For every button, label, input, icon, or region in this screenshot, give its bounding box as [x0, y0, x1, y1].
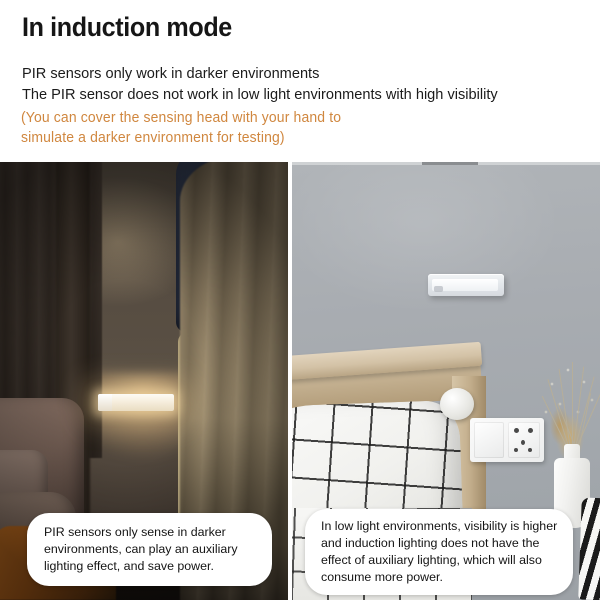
pir-sensor-head [434, 286, 443, 292]
socket-hole [521, 440, 525, 445]
flower-stem [573, 367, 584, 450]
caption-bubble-right: In low light environments, visibility is… [305, 509, 573, 595]
header-text-block: In induction mode PIR sensors only work … [0, 0, 600, 162]
note-line-1: (You can cover the sensing head with you… [21, 110, 341, 126]
wall-highlight [292, 162, 600, 362]
led-light-bar-end-cap [98, 394, 112, 411]
zebra-striped-vase [578, 497, 600, 600]
wall-switch[interactable] [474, 422, 504, 458]
note-line-2: simulate a darker environment for testin… [21, 130, 285, 146]
socket-hole [528, 428, 533, 433]
page-root: In induction mode PIR sensors only work … [0, 0, 600, 600]
subtitle-line-2: The PIR sensor does not work in low ligh… [22, 86, 498, 103]
caption-bubble-left: PIR sensors only sense in darker environ… [27, 513, 272, 586]
subtitle-line-1: PIR sensors only work in darker environm… [22, 65, 319, 82]
ceiling-shadow [422, 162, 478, 165]
pillow-pompom [440, 388, 474, 420]
page-title: In induction mode [22, 12, 232, 43]
socket-hole [514, 428, 519, 433]
socket-hole [528, 448, 532, 452]
socket-hole [514, 448, 518, 452]
